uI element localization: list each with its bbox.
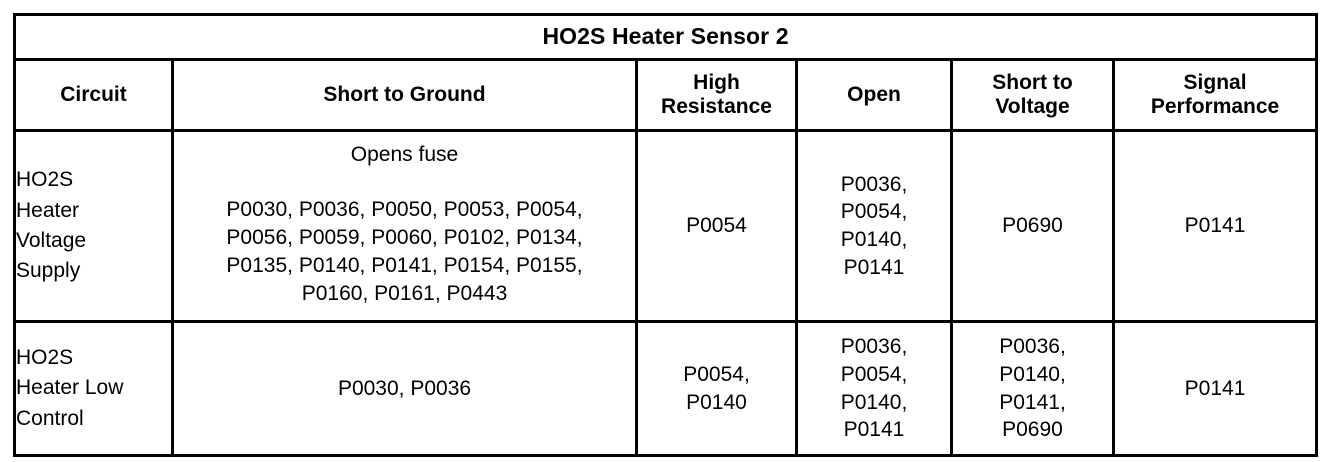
cell-short-to-voltage-row2: P0036, P0140, P0141, P0690: [952, 322, 1114, 456]
table-header-row: Circuit Short to Ground High Resistance …: [15, 60, 1317, 131]
circuit-row1-line4: Supply: [16, 256, 171, 286]
high-resistance-row2-line1: P0054,: [638, 361, 795, 389]
cell-open-row1: P0036, P0054, P0140, P0141: [797, 131, 952, 322]
short-to-ground-row1-codes-line4: P0160, P0161, P0443: [174, 280, 635, 308]
open-row1-line2: P0054,: [798, 198, 950, 226]
short-to-voltage-row2-line4: P0690: [953, 416, 1112, 444]
document-page: HO2S Heater Sensor 2 Circuit Short to Gr…: [0, 0, 1328, 462]
short-to-voltage-row1-value: P0690: [953, 212, 1112, 240]
column-header-short-to-voltage-line1: Short to: [953, 71, 1112, 95]
open-row2-line1: P0036,: [798, 333, 950, 361]
short-to-ground-row1-spacer: [174, 168, 635, 196]
table-title-row: HO2S Heater Sensor 2: [15, 15, 1317, 60]
open-row2-line4: P0141: [798, 416, 950, 444]
cell-short-to-ground-row2: P0030, P0036: [173, 322, 637, 456]
short-to-ground-row1-codes-line3: P0135, P0140, P0141, P0154, P0155,: [174, 252, 635, 280]
cell-signal-performance-row1: P0141: [1114, 131, 1317, 322]
dtc-diagnostic-table: HO2S Heater Sensor 2 Circuit Short to Gr…: [13, 13, 1318, 457]
short-to-voltage-row2-line3: P0141,: [953, 389, 1112, 417]
circuit-row2-line3: Control: [16, 404, 171, 434]
circuit-row1-line2: Heater: [16, 196, 171, 226]
circuit-row2-line1: HO2S: [16, 343, 171, 373]
column-header-high-resistance-line1: High: [638, 71, 795, 95]
signal-performance-row2-value: P0141: [1115, 375, 1315, 403]
short-to-voltage-row2-line2: P0140,: [953, 361, 1112, 389]
open-row2-line3: P0140,: [798, 389, 950, 417]
high-resistance-row1-value: P0054: [638, 212, 795, 240]
cell-high-resistance-row2: P0054, P0140: [637, 322, 797, 456]
cell-open-row2: P0036, P0054, P0140, P0141: [797, 322, 952, 456]
column-header-short-to-ground: Short to Ground: [173, 60, 637, 131]
short-to-ground-row1-stack: Opens fuse P0030, P0036, P0050, P0053, P…: [174, 141, 635, 308]
circuit-row1-line3: Voltage: [16, 226, 171, 256]
column-header-circuit: Circuit: [15, 60, 173, 131]
table-title: HO2S Heater Sensor 2: [15, 15, 1317, 60]
short-to-voltage-row2-line1: P0036,: [953, 333, 1112, 361]
column-header-signal-performance: Signal Performance: [1114, 60, 1317, 131]
column-header-open-label: Open: [798, 83, 950, 107]
cell-signal-performance-row2: P0141: [1114, 322, 1317, 456]
cell-circuit-row1: HO2S Heater Voltage Supply: [15, 131, 173, 322]
column-header-short-to-ground-label: Short to Ground: [174, 83, 635, 107]
column-header-short-to-voltage-line2: Voltage: [953, 95, 1112, 119]
open-row1-line1: P0036,: [798, 171, 950, 199]
high-resistance-row2-line2: P0140: [638, 389, 795, 417]
column-header-open: Open: [797, 60, 952, 131]
cell-short-to-voltage-row1: P0690: [952, 131, 1114, 322]
column-header-signal-performance-line2: Performance: [1115, 95, 1315, 119]
signal-performance-row1-value: P0141: [1115, 212, 1315, 240]
cell-high-resistance-row1: P0054: [637, 131, 797, 322]
table-row: HO2S Heater Voltage Supply Opens fuse P0…: [15, 131, 1317, 322]
column-header-circuit-label: Circuit: [16, 83, 171, 107]
short-to-ground-row1-codes: P0030, P0036, P0050, P0053, P0054, P0056…: [174, 196, 635, 308]
open-row1-line4: P0141: [798, 254, 950, 282]
short-to-ground-row1-codes-line2: P0056, P0059, P0060, P0102, P0134,: [174, 224, 635, 252]
column-header-high-resistance: High Resistance: [637, 60, 797, 131]
open-row2-line2: P0054,: [798, 361, 950, 389]
circuit-row1-line1: HO2S: [16, 165, 171, 195]
cell-circuit-row2: HO2S Heater Low Control: [15, 322, 173, 456]
open-row1-line3: P0140,: [798, 226, 950, 254]
circuit-row2-line2: Heater Low: [16, 373, 171, 403]
column-header-short-to-voltage: Short to Voltage: [952, 60, 1114, 131]
short-to-ground-row1-note: Opens fuse: [174, 141, 635, 168]
column-header-high-resistance-line2: Resistance: [638, 95, 795, 119]
short-to-ground-row1-codes-line1: P0030, P0036, P0050, P0053, P0054,: [174, 196, 635, 224]
table-row: HO2S Heater Low Control P0030, P0036 P00…: [15, 322, 1317, 456]
column-header-signal-performance-line1: Signal: [1115, 71, 1315, 95]
cell-short-to-ground-row1: Opens fuse P0030, P0036, P0050, P0053, P…: [173, 131, 637, 322]
short-to-ground-row2-codes-line1: P0030, P0036: [174, 375, 635, 403]
